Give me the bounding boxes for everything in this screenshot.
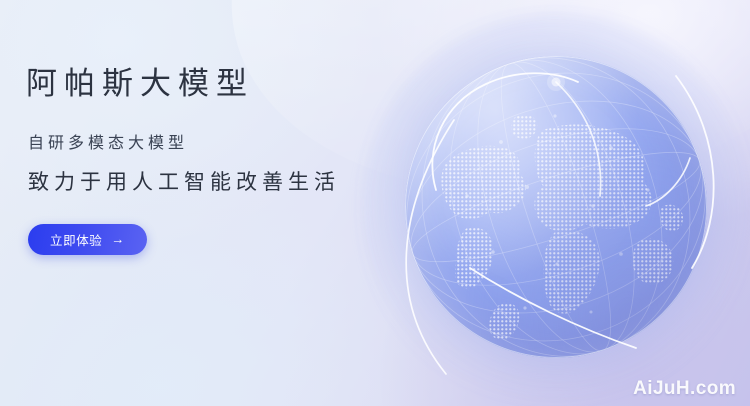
hero-banner: 阿帕斯大模型 自研多模态大模型 致力于用人工智能改善生活 立即体验 → AiJu…	[0, 0, 750, 406]
arrow-right-icon: →	[111, 233, 125, 246]
try-now-button[interactable]: 立即体验 →	[28, 224, 147, 255]
subtitle-primary: 自研多模态大模型	[28, 132, 446, 156]
watermark: AiJuH.com	[633, 378, 736, 400]
try-now-button-label: 立即体验	[50, 230, 102, 249]
globe-landmass-icon	[405, 56, 707, 358]
hero-copy: 阿帕斯大模型 自研多模态大模型 致力于用人工智能改善生活 立即体验 →	[26, 62, 446, 255]
subtitle-secondary: 致力于用人工智能改善生活	[28, 168, 446, 198]
globe-sphere	[405, 56, 707, 358]
page-title: 阿帕斯大模型	[26, 62, 446, 106]
globe-graphic	[405, 56, 707, 358]
